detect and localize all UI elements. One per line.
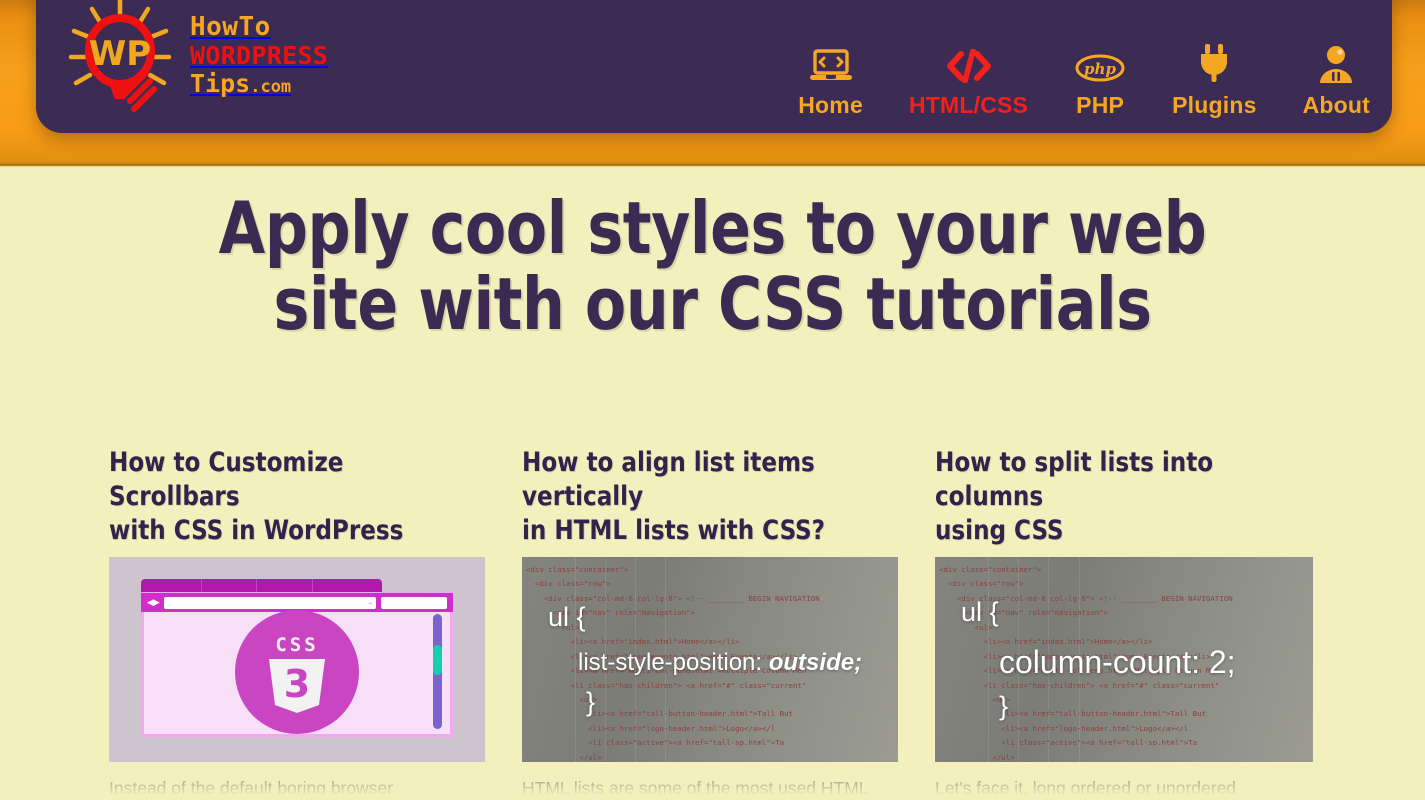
- main-navigation: Home HTML/CSS php: [798, 43, 1370, 133]
- post-card[interactable]: How to Customize Scrollbars with CSS in …: [109, 446, 485, 800]
- nav-item-home[interactable]: Home: [798, 43, 863, 119]
- post-card-excerpt: Let's face it, long ordered or unordered…: [935, 775, 1313, 800]
- post-title-line-2: in HTML lists with CSS?: [522, 515, 825, 546]
- post-card-thumbnail[interactable]: ◀▶ CSS 3: [109, 557, 485, 762]
- overlay-line-1: ul {: [522, 602, 898, 633]
- css3-logo: CSS 3: [235, 610, 359, 734]
- nav-label-about: About: [1303, 92, 1370, 119]
- hero-line-1: Apply cool styles to your web: [219, 186, 1207, 270]
- post-title-line-1: How to align list items vertically: [522, 447, 815, 512]
- nav-item-about[interactable]: About: [1303, 43, 1370, 119]
- browser-back-forward-icon: ◀▶: [147, 597, 159, 608]
- post-card-title[interactable]: How to align list items vertically in HT…: [522, 446, 879, 548]
- nav-label-home: Home: [798, 92, 863, 119]
- overlay-line-1: ul {: [935, 597, 1313, 628]
- laptop-code-icon: [809, 43, 853, 83]
- css-rule-overlay: ul { list-style-position: outside; }: [522, 557, 898, 762]
- post-title-line-1: How to split lists into columns: [935, 447, 1213, 512]
- overlay-property: list-style-position:: [578, 649, 769, 676]
- post-title-line-2: with CSS in WordPress: [109, 515, 403, 546]
- plug-icon: [1197, 43, 1231, 83]
- overlay-property: column-count: 2;: [999, 644, 1236, 680]
- logo-dotcom-text: .com: [250, 77, 291, 97]
- hero-section: Apply cool styles to your web site with …: [0, 190, 1425, 343]
- css3-wordmark: CSS: [275, 634, 318, 656]
- post-card-thumbnail[interactable]: <div class="container"> <div class="row"…: [935, 557, 1313, 762]
- code-slash-icon: [946, 43, 992, 83]
- custom-scrollbar-thumb[interactable]: [433, 645, 442, 675]
- logo-tips-text: Tips: [190, 69, 250, 98]
- logo-wordmark: HowTo WORDPRESS Tips.com: [190, 14, 328, 96]
- site-header: WP HowTo WORDPRESS Tips.com: [36, 0, 1392, 133]
- overlay-line-2: column-count: 2;: [935, 644, 1313, 681]
- post-card[interactable]: How to split lists into columns using CS…: [935, 446, 1313, 800]
- excerpt-line-1: Let's face it, long ordered or unordered: [935, 775, 1313, 800]
- user-icon: [1317, 43, 1355, 83]
- nav-item-plugins[interactable]: Plugins: [1172, 43, 1256, 119]
- overlay-line-3: }: [935, 691, 1313, 722]
- css-rule-overlay: ul { column-count: 2; }: [935, 557, 1313, 762]
- post-card-thumbnail[interactable]: <div class="container"> <div class="row"…: [522, 557, 898, 762]
- post-card-excerpt: Instead of the default boring browser sc…: [109, 775, 485, 800]
- overlay-line-2: list-style-position: outside;: [522, 649, 898, 677]
- post-title-line-2: using CSS: [935, 515, 1064, 546]
- custom-scrollbar-track[interactable]: [433, 614, 442, 729]
- nav-label-php: PHP: [1076, 92, 1124, 119]
- excerpt-line-1: HTML lists are some of the most used HTM…: [522, 775, 898, 800]
- logo-line-tips: Tips.com: [190, 71, 328, 96]
- band-bottom-edge: [0, 164, 1425, 169]
- nav-label-plugins: Plugins: [1172, 92, 1256, 119]
- logo-line-howto: HowTo: [190, 14, 328, 40]
- browser-search-box: [381, 597, 447, 609]
- overlay-line-3: }: [522, 687, 898, 718]
- browser-url-bar: [164, 597, 376, 609]
- post-card-title[interactable]: How to split lists into columns using CS…: [935, 446, 1294, 548]
- css3-version-digit: 3: [284, 662, 310, 706]
- post-card-excerpt: HTML lists are some of the most used HTM…: [522, 775, 898, 800]
- post-card-grid: How to Customize Scrollbars with CSS in …: [109, 446, 1317, 800]
- svg-text:php: php: [1084, 60, 1116, 78]
- post-card-title[interactable]: How to Customize Scrollbars with CSS in …: [109, 446, 466, 548]
- svg-text:WP: WP: [89, 34, 151, 74]
- site-logo[interactable]: WP HowTo WORDPRESS Tips.com: [64, 0, 328, 133]
- excerpt-line-1: Instead of the default boring browser: [109, 775, 485, 800]
- php-logo-icon: php: [1074, 43, 1126, 83]
- post-title-line-1: How to Customize Scrollbars: [109, 447, 343, 512]
- logo-line-wordpress: WORDPRESS: [190, 43, 328, 68]
- lightbulb-wp-icon: WP: [64, 0, 176, 115]
- nav-item-php[interactable]: php PHP: [1074, 43, 1126, 119]
- post-card[interactable]: How to align list items vertically in HT…: [522, 446, 898, 800]
- hero-line-2: site with our CSS tutorials: [273, 262, 1151, 346]
- overlay-value: outside;: [769, 649, 862, 676]
- page-root: WP HowTo WORDPRESS Tips.com: [0, 0, 1425, 800]
- nav-item-html-css[interactable]: HTML/CSS: [909, 43, 1028, 119]
- nav-label-html-css: HTML/CSS: [909, 92, 1028, 119]
- page-title: Apply cool styles to your web site with …: [50, 190, 1375, 343]
